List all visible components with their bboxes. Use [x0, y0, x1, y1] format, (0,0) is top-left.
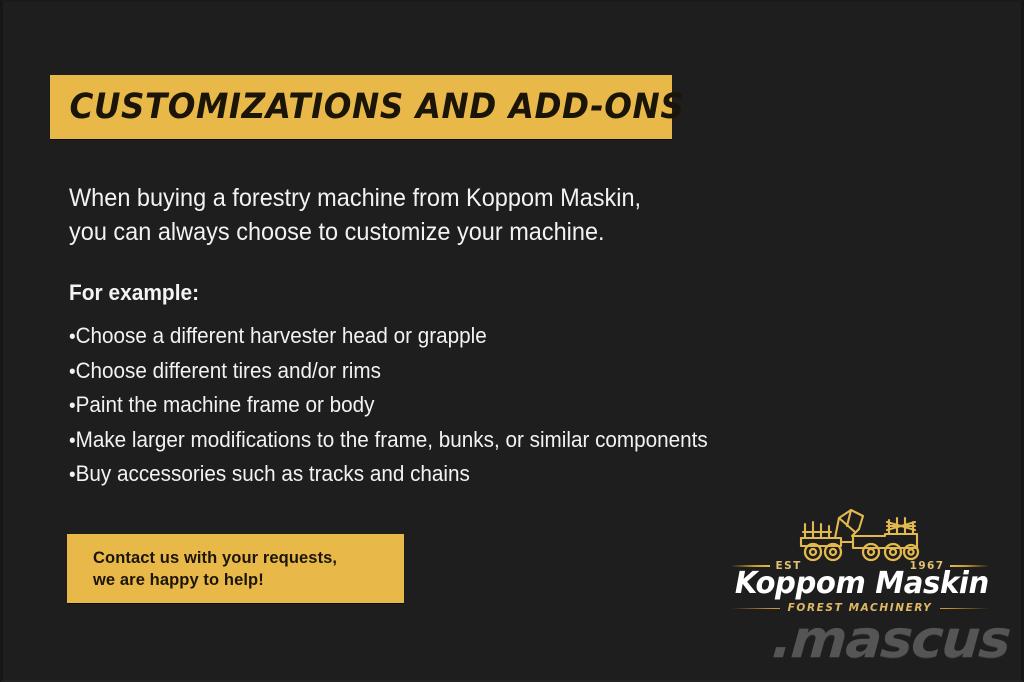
cta-line-1: Contact us with your requests, — [93, 547, 404, 569]
cta-line-2: we are happy to help! — [93, 569, 404, 591]
list-item: • Buy accessories such as tracks and cha… — [69, 463, 821, 498]
intro-line-1: When buying a forestry machine from Kopp… — [69, 181, 727, 215]
contact-cta-box[interactable]: Contact us with your requests, we are ha… — [67, 534, 404, 603]
forestry-forwarder-icon — [789, 502, 929, 564]
list-item: • Choose different tires and/or rims — [69, 360, 821, 395]
list-item-label: Buy accessories such as tracks and chain… — [76, 463, 470, 485]
list-item-label: Choose a different harvester head or gra… — [76, 325, 487, 347]
logo-wordmark: Koppom Maskin — [735, 566, 985, 601]
title-banner: CUSTOMIZATIONS AND ADD-ONS — [50, 75, 672, 139]
logo-tagline-rule-right — [940, 608, 989, 609]
bullet-dot-icon: • — [69, 431, 76, 451]
list-item-label: Paint the machine frame or body — [76, 394, 375, 416]
for-example-label: For example: — [69, 280, 199, 306]
intro-paragraph: When buying a forestry machine from Kopp… — [69, 181, 769, 249]
bullet-dot-icon: • — [69, 362, 76, 382]
koppom-maskin-logo: EST 1967 Koppom Maskin FOREST MACHINERY — [731, 502, 989, 610]
bullet-dot-icon: • — [69, 465, 76, 485]
list-item: • Choose a different harvester head or g… — [69, 325, 821, 360]
mascus-watermark: .mascus — [770, 610, 1012, 670]
list-item-label: Make larger modifications to the frame, … — [76, 429, 708, 451]
bullet-dot-icon: • — [69, 396, 76, 416]
logo-tagline-rule-left — [731, 608, 780, 609]
slide-canvas: CUSTOMIZATIONS AND ADD-ONS When buying a… — [0, 0, 1024, 682]
customization-options-list: • Choose a different harvester head or g… — [69, 325, 869, 498]
list-item: • Make larger modifications to the frame… — [69, 429, 821, 464]
list-item-label: Choose different tires and/or rims — [76, 360, 381, 382]
list-item: • Paint the machine frame or body — [69, 394, 821, 429]
page-title: CUSTOMIZATIONS AND ADD-ONS — [50, 87, 684, 127]
bullet-dot-icon: • — [69, 327, 76, 347]
intro-line-2: you can always choose to customize your … — [69, 215, 727, 249]
